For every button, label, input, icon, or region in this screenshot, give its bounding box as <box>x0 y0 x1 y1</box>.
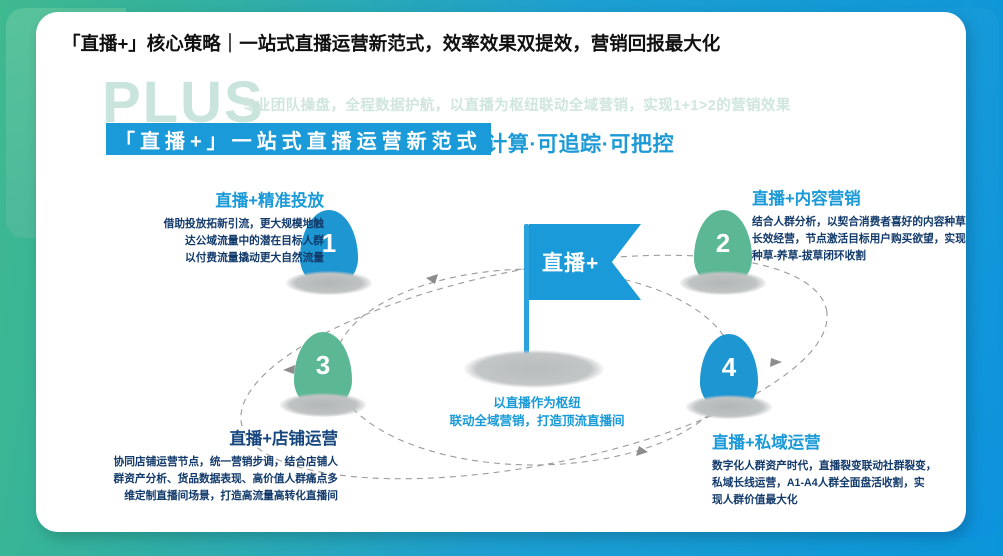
pin-shadow-2 <box>680 271 766 295</box>
item-body-2: 结合人群分析，以契合消费者喜好的内容种草 长效经营，节点激活目标用户购买欲望，实… <box>752 214 966 266</box>
diagram-area: 直播+ 以直播作为枢纽 联动全域营销，打造顶流直播间 1 2 <box>36 162 966 532</box>
pin-marker-4[interactable]: 4 <box>700 334 758 412</box>
pin-marker-3[interactable]: 3 <box>294 332 352 410</box>
pin-number-4: 4 <box>722 352 736 383</box>
item-title-4: 直播+私域运营 <box>712 434 966 454</box>
banner-label: 「直播+」一站式直播运营新范式 <box>115 125 482 154</box>
item-3-line-2: 群资产分析、货品数据表现、高价值人群痛点多 <box>56 471 338 488</box>
item-title-1: 直播+精准投放 <box>94 192 324 212</box>
hub-base-shadow <box>464 350 604 388</box>
item-title-3: 直播+店铺运营 <box>56 430 338 450</box>
item-1-line-3: 以付费流量撬动更大自然流量 <box>94 250 324 267</box>
item-body-1: 借助投放拓新引流，更大规模地触 达公域流量中的潜在目标人群 以付费流量撬动更大自… <box>94 216 324 268</box>
item-4-line-2: 私域长线运营，A1-A4人群全面盘活收割，实 <box>712 475 966 492</box>
pin-shadow-1 <box>286 271 372 295</box>
page-title: 「直播+」核心策略｜一站式直播运营新范式，效率效果双提效，营销回报最大化 <box>62 30 720 56</box>
pin-shadow-4 <box>686 395 772 419</box>
hub-caption-line-1: 以直播作为枢纽 <box>432 394 642 412</box>
slide-background: 「直播+」核心策略｜一站式直播运营新范式，效率效果双提效，营销回报最大化 PLU… <box>0 0 1003 556</box>
item-1-line-1: 借助投放拓新引流，更大规模地触 <box>94 216 324 233</box>
item-4-line-3: 现人群价值最大化 <box>712 492 966 509</box>
flag-label: 直播+ <box>542 247 599 277</box>
pin-number-1: 1 <box>322 228 336 259</box>
item-block-2: 直播+内容营销 结合人群分析，以契合消费者喜好的内容种草 长效经营，节点激活目标… <box>752 190 966 266</box>
item-1-line-2: 达公域流量中的潜在目标人群 <box>94 233 324 250</box>
item-3-line-1: 协同店铺运营节点，统一营销步调，结合店铺人 <box>56 454 338 471</box>
pin-number-3: 3 <box>316 350 330 381</box>
subtitle: 专业团队操盘，全程数据护航，以直播为枢纽联动全域营销，实现1+1>2的营销效果 <box>241 94 791 115</box>
item-block-1: 直播+精准投放 借助投放拓新引流，更大规模地触 达公域流量中的潜在目标人群 以付… <box>94 192 324 268</box>
item-body-3: 协同店铺运营节点，统一营销步调，结合店铺人 群资产分析、货品数据表现、高价值人群… <box>56 454 338 506</box>
item-3-line-3: 维定制直播间场景，打造高流量高转化直播间 <box>56 488 338 505</box>
pin-marker-2[interactable]: 2 <box>694 210 752 288</box>
item-body-4: 数字化人群资产时代，直播裂变联动社群裂变， 私域长线运营，A1-A4人群全面盘活… <box>712 458 966 510</box>
pin-shadow-3 <box>280 393 366 417</box>
item-2-line-1: 结合人群分析，以契合消费者喜好的内容种草 <box>752 214 966 231</box>
item-4-line-1: 数字化人群资产时代，直播裂变联动社群裂变， <box>712 458 966 475</box>
item-2-line-2: 长效经营，节点激活目标用户购买欲望，实现 <box>752 231 966 248</box>
item-block-4: 直播+私域运营 数字化人群资产时代，直播裂变联动社群裂变， 私域长线运营，A1-… <box>712 434 966 510</box>
hub-caption: 以直播作为枢纽 联动全域营销，打造顶流直播间 <box>432 394 642 430</box>
item-2-line-3: 种草-养草-拔草闭环收割 <box>752 248 966 265</box>
hub-caption-line-2: 联动全域营销，打造顶流直播间 <box>432 412 642 430</box>
item-title-2: 直播+内容营销 <box>752 190 966 210</box>
pin-number-2: 2 <box>716 228 730 259</box>
content-card: 「直播+」核心策略｜一站式直播运营新范式，效率效果双提效，营销回报最大化 PLU… <box>36 12 966 532</box>
item-block-3: 直播+店铺运营 协同店铺运营节点，统一营销步调，结合店铺人 群资产分析、货品数据… <box>56 430 338 506</box>
banner-strip: 「直播+」一站式直播运营新范式 <box>106 123 491 155</box>
